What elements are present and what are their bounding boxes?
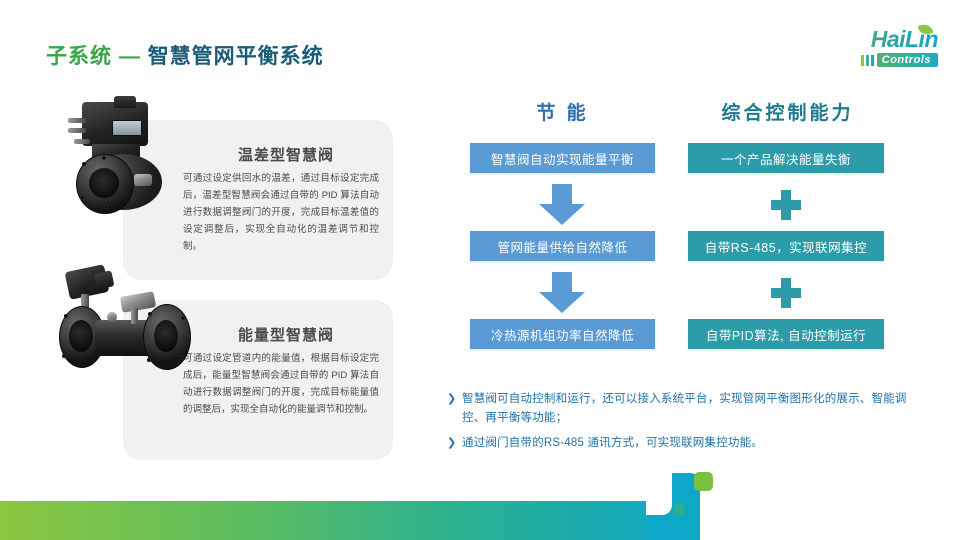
plus-icon	[771, 278, 801, 308]
arrow-down-icon	[539, 184, 585, 226]
note-text: 智慧阀可自动控制和运行，还可以接入系统平台，实现管网平衡图形化的展示、智能调控、…	[462, 390, 915, 428]
logo-subrow: Controls	[861, 53, 938, 67]
notes-list: ❯ 智慧阀可自动控制和运行，还可以接入系统平台，实现管网平衡图形化的展示、智能调…	[447, 390, 915, 459]
footer-gradient-bar	[0, 501, 700, 540]
note-text: 通过阀门自带的RS-485 通讯方式，可实现联网集控功能。	[462, 434, 915, 453]
flow-step-right-1: 一个产品解决能量失衡	[688, 143, 884, 173]
flow-step-left-1: 智慧阀自动实现能量平衡	[470, 143, 655, 173]
card-body-text: 可通过设定管道内的能量值，根据目标设定完成后，能量型智慧阀会通过自带的 PID …	[183, 350, 379, 418]
flow-step-left-3: 冷热源机组功率自然降低	[470, 319, 655, 349]
flow-step-left-2: 管网能量供给自然降低	[470, 231, 655, 261]
decoration-square-teal	[673, 504, 685, 516]
plus-icon	[771, 190, 801, 220]
arrow-down-icon	[539, 272, 585, 314]
hailin-logo: HaiLin Controls	[814, 28, 938, 76]
column-heading-energy-saving: 节 能	[470, 98, 655, 125]
flow-step-right-2: 自带RS-485，实现联网集控	[688, 231, 884, 261]
page-title-main: 智慧管网平衡系统	[148, 45, 324, 68]
logo-subtext: Controls	[877, 53, 938, 67]
chevron-right-icon: ❯	[447, 390, 462, 408]
note-item: ❯ 智慧阀可自动控制和运行，还可以接入系统平台，实现管网平衡图形化的展示、智能调…	[447, 390, 915, 428]
decoration-square-green	[694, 472, 713, 491]
page-title-prefix: 子系统 —	[46, 45, 141, 68]
chevron-right-icon: ❯	[447, 434, 462, 452]
valve-image-temperature	[62, 96, 187, 221]
note-item: ❯ 通过阀门自带的RS-485 通讯方式，可实现联网集控功能。	[447, 434, 915, 453]
logo-bars-icon	[861, 55, 874, 66]
column-heading-control-capability: 综合控制能力	[690, 98, 885, 125]
slide-root: 子系统 — 智慧管网平衡系统 HaiLin Controls 温差型智慧阀 可通…	[0, 0, 960, 540]
page-title: 子系统 — 智慧管网平衡系统	[46, 40, 324, 70]
valve-image-energy	[55, 268, 195, 388]
flow-step-right-3: 自带PID算法, 自动控制运行	[688, 319, 884, 349]
card-title: 能量型智慧阀	[193, 324, 379, 345]
card-body-text: 可通过设定供回水的温差，通过目标设定完成后，温差型智慧阀会通过自带的 PID 算…	[183, 170, 379, 255]
card-title: 温差型智慧阀	[193, 144, 379, 165]
